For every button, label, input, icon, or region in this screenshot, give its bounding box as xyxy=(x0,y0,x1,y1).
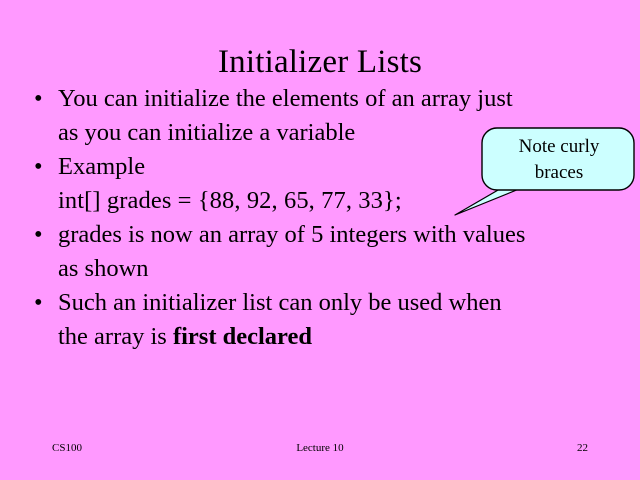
bullet-icon: • xyxy=(34,150,43,184)
list-item-line: as you can initialize a variable xyxy=(58,116,612,150)
list-item-text-bold: first declared xyxy=(173,323,312,350)
list-item: • grades is now an array of 5 integers w… xyxy=(28,218,612,286)
bullet-icon: • xyxy=(34,286,43,320)
page-title: Initializer Lists xyxy=(0,42,640,82)
footer-page-number: 22 xyxy=(577,440,588,456)
footer-lecture: Lecture 10 xyxy=(0,440,640,456)
list-item: • Example int[] grades = {88, 92, 65, 77… xyxy=(28,150,612,218)
list-item-line: as shown xyxy=(58,252,612,286)
list-item-line: grades is now an array of 5 integers wit… xyxy=(58,218,612,252)
bullet-list: • You can initialize the elements of an … xyxy=(28,82,612,354)
list-item-text-plain: the array is xyxy=(58,323,173,350)
list-item-line: Example xyxy=(58,150,612,184)
list-item: • Such an initializer list can only be u… xyxy=(28,286,612,354)
list-item-line-final: the array is first declared xyxy=(58,320,612,354)
bullet-icon: • xyxy=(34,218,43,252)
list-item-line: Such an initializer list can only be use… xyxy=(58,286,612,320)
code-snippet: int[] grades = {88, 92, 65, 77, 33}; xyxy=(58,184,612,218)
bullet-icon: • xyxy=(34,82,43,116)
slide-footer: CS100 Lecture 10 22 xyxy=(0,440,640,460)
list-item: • You can initialize the elements of an … xyxy=(28,82,612,150)
slide: Initializer Lists • You can initialize t… xyxy=(0,0,640,480)
list-item-line: You can initialize the elements of an ar… xyxy=(58,82,612,116)
